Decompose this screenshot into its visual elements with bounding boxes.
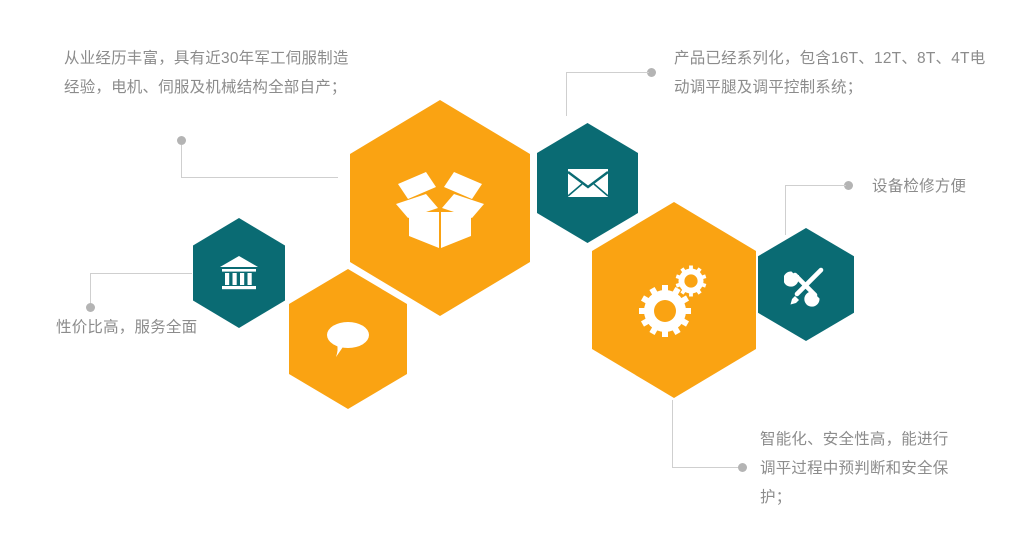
hexagon-open-box[interactable] (350, 100, 530, 316)
caption-smart: 智能化、安全性高，能进行调平过程中预判断和安全保护； (760, 425, 960, 512)
connector-dot-smart (738, 463, 747, 472)
caption-service: 设备检修方便 (872, 172, 1022, 201)
wrench-tools-icon (784, 263, 828, 307)
speech-bubble-icon (323, 317, 373, 361)
caption-value: 性价比高，服务全面 (56, 313, 206, 342)
connector-line-smart-vertical (672, 400, 673, 468)
connector-line-series-vertical (566, 72, 567, 116)
connector-dot-value (86, 303, 95, 312)
envelope-icon (567, 168, 609, 198)
hexagon-bank[interactable] (193, 218, 285, 328)
connector-line-series-horizontal (566, 72, 649, 73)
connector-line-smart-horizontal (672, 467, 740, 468)
open-box-icon (392, 162, 488, 254)
hexagon-speech-bubble[interactable] (289, 269, 407, 409)
infographic-canvas: 从业经历丰富，具有近30年军工伺服制造经验，电机、伺服及机械结构全部自产； 产品… (0, 0, 1028, 536)
caption-experience: 从业经历丰富，具有近30年军工伺服制造经验，电机、伺服及机械结构全部自产； (64, 44, 354, 102)
connector-dot-experience (177, 136, 186, 145)
connector-line-value-horizontal (90, 273, 192, 274)
connector-line-service-horizontal (785, 185, 846, 186)
connector-line-experience-vertical (181, 145, 182, 177)
connector-line-value-vertical (90, 273, 91, 305)
connector-line-service-vertical (785, 185, 786, 235)
hexagon-gears[interactable] (592, 202, 756, 398)
hexagon-envelope[interactable] (537, 123, 638, 243)
gears-icon (633, 259, 715, 341)
caption-series: 产品已经系列化，包含16T、12T、8T、4T电动调平腿及调平控制系统； (674, 44, 994, 102)
connector-line-experience-horizontal (181, 177, 338, 178)
bank-icon (219, 254, 259, 292)
hexagon-tools[interactable] (758, 228, 854, 341)
